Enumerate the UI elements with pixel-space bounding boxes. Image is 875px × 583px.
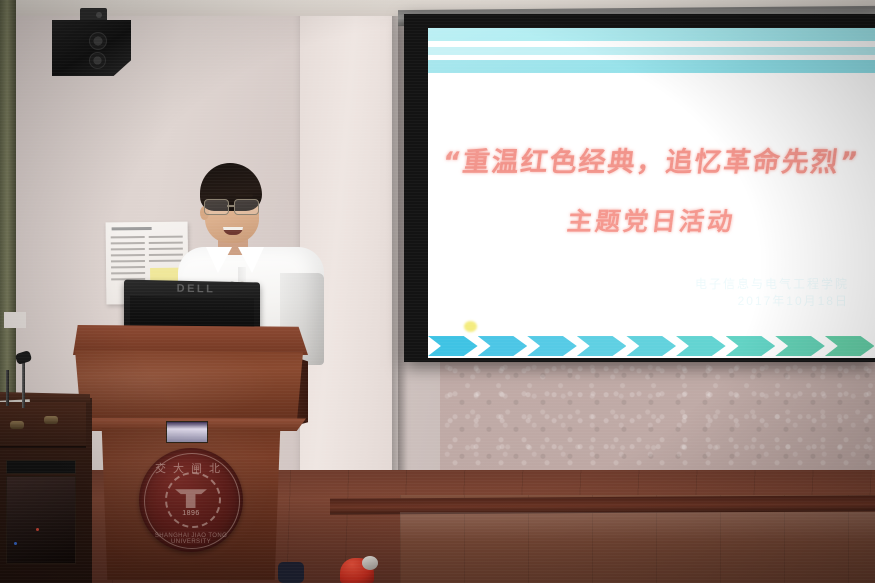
equipment-led-blue [14,542,17,545]
slide-chevron-9 [825,336,875,356]
slide-chevron-3 [527,336,577,356]
eyebrow-left [207,194,225,197]
slide-chevron-8 [775,336,825,356]
dell-logo: DELL [171,283,221,296]
cabinet-drawer-handle [10,421,24,429]
slide-chevron-6 [676,336,726,356]
poster-heading [112,227,152,230]
presentation-photo: “重温红色经典，追忆革命先烈” 主题党日活动 电子信息与电气工程学院 2017年… [0,0,875,583]
floor-reflection [400,512,875,542]
eyeglasses-icon [202,199,262,214]
equipment-led-red [36,528,39,531]
cabinet-glass-door [6,476,76,564]
slide-chevron-1 [428,336,478,356]
slide-chevron-4 [577,336,627,356]
microphone-stand [22,360,25,408]
slide-chevron-5 [626,336,676,356]
eyebrow-right [235,194,253,197]
cabinet-drawer-handle [44,416,58,424]
speaker-cone-upper [89,32,107,50]
podium-front-panel [75,350,303,430]
slide-chevron-7 [726,336,776,356]
slide-subtitle: 主题党日活动 [428,202,875,238]
microphone-stand-secondary [6,370,9,406]
slide-chevron-2 [478,336,528,356]
poster-column-left [111,236,146,284]
slide-title: “重温红色经典，追忆革命先烈” [428,140,875,179]
podium-plaque [166,421,208,443]
speaker-cone-lower [89,52,106,69]
university-emblem: 交大闸北 1896 SHANGHAI JIAO TONG UNIVERSITY [139,448,243,552]
slide-band-3 [428,47,875,55]
cabinet-shelf [6,460,76,474]
wall-small-label [4,312,26,328]
slide-accent-dot [464,321,477,332]
projection-screen: “重温红色经典，追忆革命先烈” 主题党日活动 电子信息与电气工程学院 2017年… [404,14,875,362]
eyeglass-lens-right [234,199,259,215]
slide-credit-line-1: 电子信息与电气工程学院 [695,276,849,293]
slide-credit-line-2: 2017年10月18日 [695,293,849,310]
emblem-year: 1896 [177,510,205,517]
slide-chevron-strip [428,332,875,356]
floor-object-dark [278,562,304,583]
slide-band-1 [428,28,875,41]
projected-slide: “重温红色经典，追忆革命先烈” 主题党日活动 电子信息与电气工程学院 2017年… [428,28,875,358]
slide-canvas: “重温红色经典，追忆革命先烈” 主题党日活动 电子信息与电气工程学院 2017年… [428,28,875,358]
eyeglass-lens-left [204,199,229,215]
fire-extinguisher-cap [362,556,378,570]
slide-credit: 电子信息与电气工程学院 2017年10月18日 [695,276,849,310]
slide-band-5 [428,60,875,73]
emblem-english-text: SHANGHAI JIAO TONG UNIVERSITY [139,533,243,545]
